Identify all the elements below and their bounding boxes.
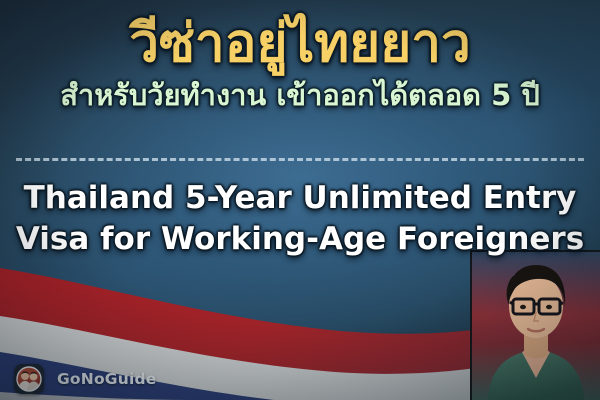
headline-english: Thailand 5-Year Unlimited Entry Visa for… <box>0 178 600 260</box>
people-avatar-icon <box>14 364 44 394</box>
brand-logo: GoNoGuide <box>14 364 156 394</box>
headline-thai: วีซ่าอยู่ไทยยาว <box>0 0 600 73</box>
brand-name: GoNoGuide <box>57 370 156 388</box>
headline-english-line1: Thailand 5-Year Unlimited Entry <box>0 178 600 219</box>
youtube-thumbnail: วีซ่าอยู่ไทยยาว สำหรับวัยทำงาน เข้าออกได… <box>0 0 600 400</box>
title-text-block: วีซ่าอยู่ไทยยาว สำหรับวัยทำงาน เข้าออกได… <box>0 0 600 113</box>
subline-thai: สำหรับวัยทำงาน เข้าออกได้ตลอด 5 ปี <box>0 73 600 113</box>
presenter-photo <box>470 250 600 400</box>
dashed-divider <box>16 158 584 161</box>
headline-english-line2: Visa for Working-Age Foreigners <box>0 219 600 260</box>
